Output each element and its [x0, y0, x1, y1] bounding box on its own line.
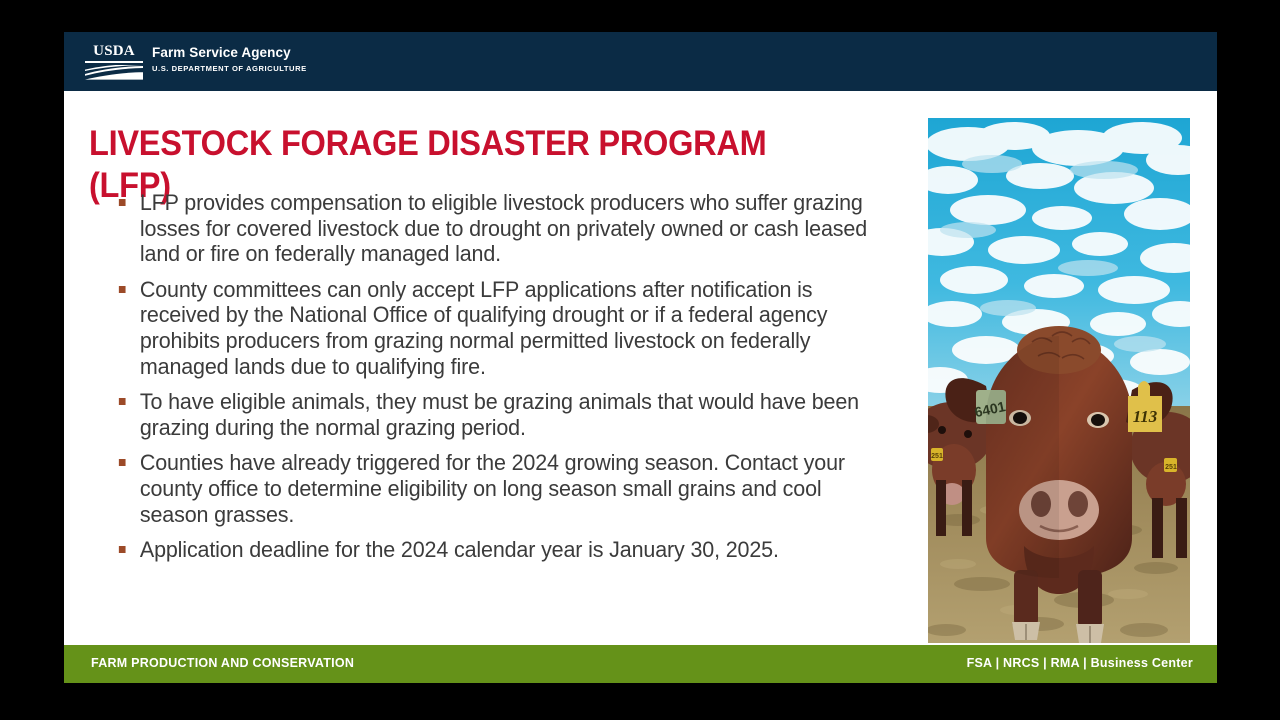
department-name-text: U.S. DEPARTMENT OF AGRICULTURE: [152, 63, 307, 75]
slide-header-band: USDA Farm Service Agency U.S. DEPARTMENT…: [64, 32, 1217, 91]
agency-title-block: Farm Service Agency U.S. DEPARTMENT OF A…: [152, 44, 307, 75]
bullet-square-icon: [119, 546, 126, 553]
list-item-text: Counties have already triggered for the …: [140, 450, 845, 526]
list-item-text: County committees can only accept LFP ap…: [140, 277, 827, 379]
list-item: Application deadline for the 2024 calend…: [116, 537, 880, 563]
screen-letterbox: USDA Farm Service Agency U.S. DEPARTMENT…: [0, 0, 1280, 720]
footer-agency-links: FSA | NRCS | RMA | Business Center: [967, 656, 1193, 670]
list-item: LFP provides compensation to eligible li…: [116, 190, 880, 267]
slide-footer-band: FARM PRODUCTION AND CONSERVATION FSA | N…: [64, 645, 1217, 683]
list-item: To have eligible animals, they must be g…: [116, 389, 880, 440]
presentation-slide: USDA Farm Service Agency U.S. DEPARTMENT…: [64, 32, 1217, 683]
list-item: County committees can only accept LFP ap…: [116, 277, 880, 379]
usda-logo: USDA Farm Service Agency U.S. DEPARTMENT…: [85, 44, 307, 80]
list-item-text: LFP provides compensation to eligible li…: [140, 190, 867, 266]
svg-text:251: 251: [1165, 464, 1177, 471]
list-item-text: To have eligible animals, they must be g…: [140, 389, 859, 440]
slide-body-bullet-list: LFP provides compensation to eligible li…: [116, 190, 916, 563]
usda-field-furrow-icon: [85, 65, 143, 80]
agency-name-text: Farm Service Agency: [152, 45, 307, 61]
list-item: Counties have already triggered for the …: [116, 450, 880, 527]
usda-underline-rule: [85, 61, 143, 63]
bullet-square-icon: [119, 199, 126, 206]
cattle-photo: 251 251: [928, 118, 1190, 643]
bullet-square-icon: [119, 398, 126, 405]
bullet-square-icon: [119, 286, 126, 293]
usda-wordmark-text: USDA: [85, 44, 143, 59]
list-item-text: Application deadline for the 2024 calend…: [140, 537, 779, 562]
cattle-photo-illustration: 251 251: [928, 118, 1190, 643]
footer-agency-label: FARM PRODUCTION AND CONSERVATION: [91, 656, 354, 670]
bullet-square-icon: [119, 459, 126, 466]
svg-text:251: 251: [931, 453, 943, 460]
svg-text:113: 113: [1133, 407, 1158, 426]
usda-seal-icon: USDA: [85, 44, 143, 80]
